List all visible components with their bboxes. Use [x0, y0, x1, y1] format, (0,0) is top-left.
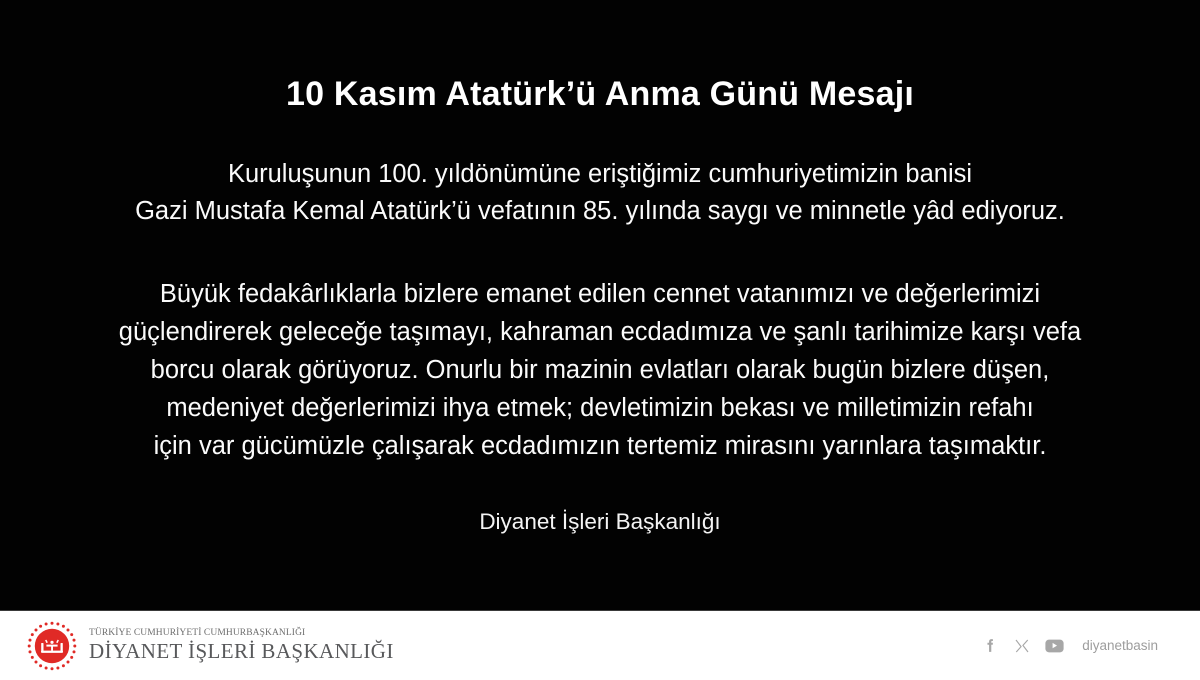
youtube-icon[interactable] — [1045, 639, 1064, 653]
social-handle[interactable]: diyanetbasin — [1082, 638, 1158, 653]
lede-line: Kuruluşunun 100. yıldönümüne eriştiğimiz… — [46, 156, 1154, 193]
message-area: 10 Kasım Atatürk’ü Anma Günü Mesajı Kuru… — [0, 0, 1200, 610]
body-line: medeniyet değerlerimizi ihya etmek; devl… — [46, 389, 1154, 427]
body-line: güçlendirerek geleceğe taşımayı, kahrama… — [46, 313, 1154, 351]
signature-text: Diyanet İşleri Başkanlığı — [46, 465, 1154, 536]
diyanet-emblem-icon — [26, 620, 78, 672]
facebook-icon[interactable] — [982, 637, 999, 654]
body-line: için var gücümüzle çalışarak ecdadımızın… — [46, 427, 1154, 465]
brand-name: DİYANET İŞLERİ BAŞKANLIĞI — [89, 641, 394, 662]
body-line: borcu olarak görüyoruz. Onurlu bir mazin… — [46, 351, 1154, 389]
page-title: 10 Kasım Atatürk’ü Anma Günü Mesajı — [46, 0, 1154, 114]
x-twitter-icon[interactable] — [1014, 638, 1030, 654]
body-line: Büyük fedakârlıklarla bizlere emanet edi… — [46, 275, 1154, 313]
lede-line: Gazi Mustafa Kemal Atatürk’ü vefatının 8… — [46, 193, 1154, 230]
footer-bar: TÜRKİYE CUMHURİYETİ CUMHURBAŞKANLIĞI DİY… — [0, 610, 1200, 680]
brand-lockup: TÜRKİYE CUMHURİYETİ CUMHURBAŞKANLIĞI DİY… — [26, 620, 394, 672]
brand-superline: TÜRKİYE CUMHURİYETİ CUMHURBAŞKANLIĞI — [89, 629, 394, 639]
brand-text: TÜRKİYE CUMHURİYETİ CUMHURBAŞKANLIĞI DİY… — [89, 629, 394, 663]
lede-paragraph: Kuruluşunun 100. yıldönümüne eriştiğimiz… — [46, 114, 1154, 230]
poster-root: 10 Kasım Atatürk’ü Anma Günü Mesajı Kuru… — [0, 0, 1200, 680]
body-paragraph: Büyük fedakârlıklarla bizlere emanet edi… — [46, 230, 1154, 465]
social-links: diyanetbasin — [982, 637, 1178, 654]
